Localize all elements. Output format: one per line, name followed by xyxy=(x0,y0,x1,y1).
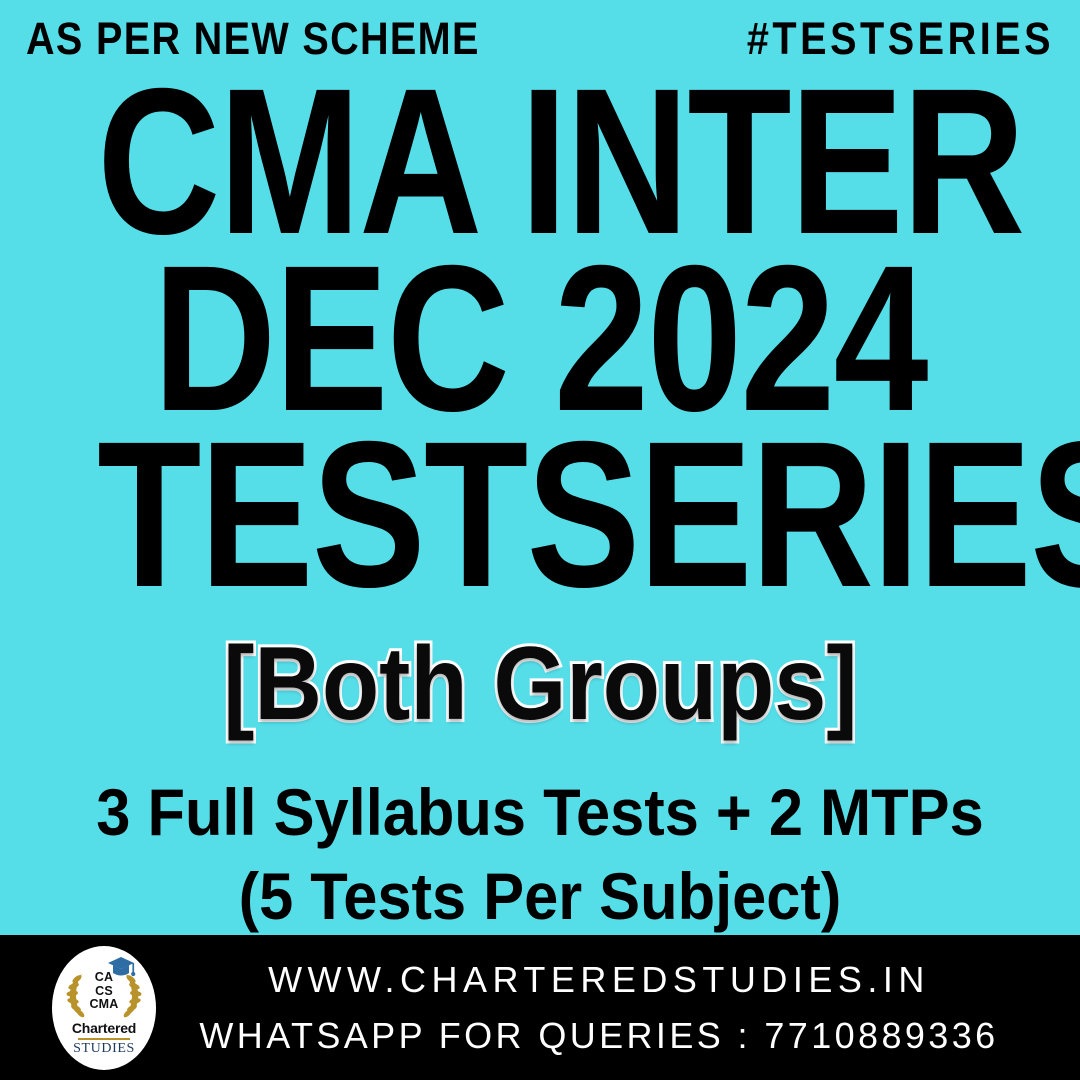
details-block: 3 Full Syllabus Tests + 2 MTPs (5 Tests … xyxy=(0,770,1080,939)
promo-poster: AS PER NEW SCHEME #TESTSERIES CMA INTER … xyxy=(0,0,1080,1080)
footer-bar: CA CS CMA Chartered STUDIES WWW.CHARTERE… xyxy=(0,935,1080,1080)
whatsapp-contact[interactable]: WHATSAPP FOR QUERIES : 7710889336 xyxy=(199,1015,998,1057)
subtitle-row: [Both Groups] xyxy=(0,632,1080,736)
detail-line-per-subject: (5 Tests Per Subject) xyxy=(38,854,1042,938)
logo-abbr-cs: CS xyxy=(89,985,118,999)
subtitle-both-groups: [Both Groups] xyxy=(223,632,857,736)
footer-contact-block: WWW.CHARTEREDSTUDIES.IN WHATSAPP FOR QUE… xyxy=(178,959,1080,1057)
detail-line-tests: 3 Full Syllabus Tests + 2 MTPs xyxy=(38,770,1042,854)
logo-content: CA CS CMA Chartered STUDIES xyxy=(52,946,156,1070)
logo-abbr-cma: CMA xyxy=(89,998,118,1012)
logo-abbr-ca: CA xyxy=(89,971,118,985)
headline-line-3: TESTSERIES xyxy=(97,429,983,602)
logo-divider xyxy=(78,1038,130,1040)
page-title: CMA INTER DEC 2024 TESTSERIES xyxy=(0,76,1080,606)
brand-logo: CA CS CMA Chartered STUDIES xyxy=(52,946,156,1070)
logo-abbreviations: CA CS CMA xyxy=(89,971,118,1012)
logo-brand-name: Chartered xyxy=(72,1021,136,1035)
website-url[interactable]: WWW.CHARTEREDSTUDIES.IN xyxy=(268,959,930,1001)
logo-credentials: CA CS CMA xyxy=(52,966,156,1018)
logo-brand-subname: STUDIES xyxy=(73,1042,135,1056)
